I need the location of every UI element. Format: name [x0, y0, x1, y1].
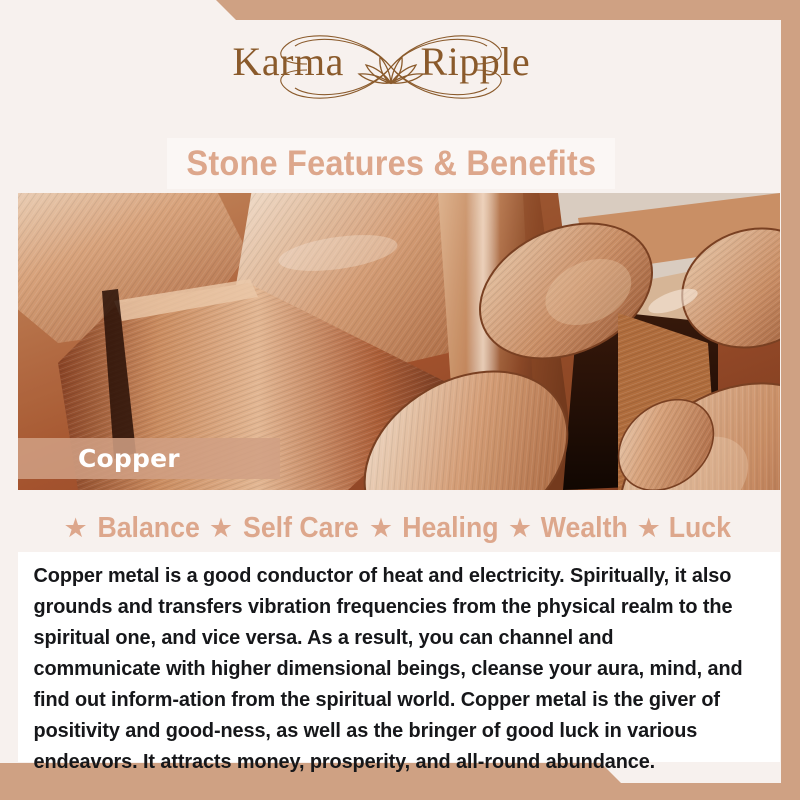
lotus-icon — [359, 57, 423, 83]
hero-label-text: Copper — [78, 444, 180, 473]
hero-image: Copper — [18, 193, 780, 490]
title-strip: Stone Features & Benefits — [167, 138, 615, 189]
brand-logo: Karma Ripple — [0, 26, 781, 108]
description-block: Copper metal is a good conductor of heat… — [18, 552, 780, 762]
benefits-row: ★ Balance ★ Self Care ★ Healing ★ Wealth… — [18, 508, 780, 548]
star-icon: ★ — [508, 515, 532, 542]
star-icon: ★ — [209, 515, 233, 542]
right-accent-band — [779, 0, 800, 800]
star-icon: ★ — [369, 515, 393, 542]
logo-word-karma: Karma — [233, 42, 344, 82]
star-icon: ★ — [63, 515, 87, 542]
logo-word-ripple: Ripple — [421, 42, 531, 82]
benefit-wealth: Wealth — [541, 512, 628, 545]
bottom-accent-band — [0, 781, 800, 800]
benefit-healing: Healing — [402, 512, 498, 545]
infographic-card: Karma Ripple Stone Features & Benefits — [0, 0, 800, 800]
benefit-luck: Luck — [669, 512, 731, 545]
benefit-self-care: Self Care — [243, 512, 359, 545]
page-title: Stone Features & Benefits — [186, 144, 596, 184]
star-icon: ★ — [637, 515, 661, 542]
benefit-balance: Balance — [97, 512, 199, 545]
description-text: Copper metal is a good conductor of heat… — [18, 552, 757, 777]
hero-label: Copper — [18, 438, 280, 479]
